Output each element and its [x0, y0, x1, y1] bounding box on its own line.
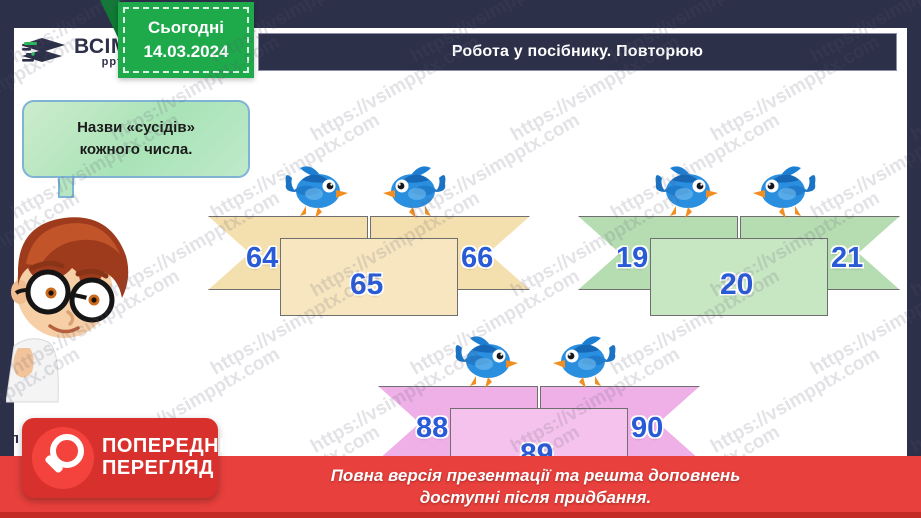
ribbon-number-center: 65 — [350, 268, 383, 302]
magnifier-icon — [32, 427, 94, 489]
obscured-text: п — [10, 430, 19, 447]
ribbon-number-left: 88 — [416, 412, 448, 445]
graduation-cap-icon — [22, 35, 68, 69]
watermark-text: https://vsimpptx.com — [907, 188, 921, 303]
boy-with-glasses-character — [6, 196, 156, 406]
bubble-line-2: кожного числа. — [80, 139, 193, 161]
presentation-slide: https://vsimpptx.comhttps://vsimpptx.com… — [0, 0, 921, 518]
bird-icon — [454, 334, 520, 390]
preview-badge-line-1: ПОПЕРЕДНІЙ — [102, 436, 240, 458]
bird-icon — [751, 164, 817, 220]
today-date-tag: Сьогодні 14.03.2024 — [118, 2, 254, 78]
bird-icon — [551, 334, 617, 390]
watermark-text: https://vsimpptx.com — [907, 32, 921, 147]
slide-header-bar: Робота у посібнику. Повторюю — [258, 33, 897, 71]
ribbon-19-20-21: 19 20 21 — [578, 216, 900, 316]
speech-bubble: Назви «сусідів» кожного числа. — [22, 100, 250, 178]
date-tag-value: 14.03.2024 — [143, 42, 228, 62]
ribbon-number-right: 66 — [461, 242, 493, 275]
bottom-accent-line — [0, 512, 921, 518]
ribbon-number-center: 20 — [720, 268, 753, 302]
ribbon-number-right: 21 — [831, 242, 863, 275]
bird-icon — [284, 164, 350, 220]
purchase-notice-line-1: Повна версія презентації та решта доповн… — [331, 465, 741, 487]
speech-bubble-tail — [58, 176, 74, 198]
ribbon-number-right: 90 — [631, 412, 663, 445]
watermark-text: https://vsimpptx.com — [907, 344, 921, 459]
page-title: Робота у посібнику. Повторюю — [452, 43, 703, 61]
purchase-notice-line-2: доступні після придбання. — [420, 487, 651, 509]
ribbon-64-65-66: 64 65 66 — [208, 216, 530, 316]
bird-icon — [654, 164, 720, 220]
ribbon-number-left: 19 — [616, 242, 648, 275]
bubble-line-1: Назви «сусідів» — [77, 117, 195, 139]
preview-badge-line-2: ПЕРЕГЛЯД — [102, 458, 240, 480]
preview-badge[interactable]: ПОПЕРЕДНІЙ ПЕРЕГЛЯД — [22, 418, 218, 498]
bird-icon — [381, 164, 447, 220]
date-tag-label: Сьогодні — [148, 18, 224, 38]
preview-badge-text: ПОПЕРЕДНІЙ ПЕРЕГЛЯД — [102, 436, 240, 479]
ribbon-number-left: 64 — [246, 242, 278, 275]
